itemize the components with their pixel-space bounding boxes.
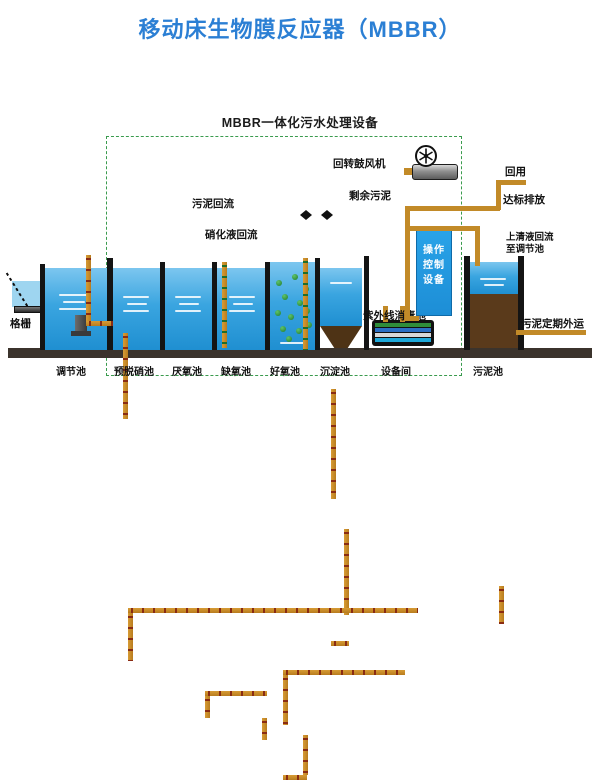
pipe-nitrified-return-left	[205, 696, 210, 718]
tank-water-anaerobic	[165, 268, 213, 350]
tank-label-regulating: 调节池	[56, 363, 86, 378]
sludge-tank-sludge	[470, 294, 518, 348]
tank-label-aerobic: 好氧池	[270, 363, 300, 378]
screen-label: 格栅	[10, 318, 31, 330]
ctrl-line-1: 操作	[417, 243, 451, 258]
pipe-uv-to-riser	[405, 316, 419, 321]
pipe-aerobic-diffuser	[303, 258, 308, 350]
reuse-label: 回用	[505, 166, 526, 178]
ground-base-mid	[296, 348, 456, 358]
pipe-blower-header	[283, 670, 405, 675]
pipe-sludge-return-main	[128, 608, 418, 613]
pipe-anoxic-riser	[222, 262, 227, 348]
pipe-sludge-return-down	[128, 613, 133, 661]
ctrl-line-2: 控制	[417, 258, 451, 273]
sludge-return-label: 污泥回流	[192, 198, 234, 210]
tank-label-anoxic: 缺氧池	[221, 363, 251, 378]
supernatant-return-label-2: 至调节池	[506, 244, 544, 255]
supernatant-return-label-1: 上清液回流	[506, 232, 554, 243]
pipe-supernatant-riser	[499, 586, 504, 624]
blower-label: 回转鼓风机	[333, 158, 386, 170]
tank-label-pre-denitrify: 预脱硝池	[114, 363, 154, 378]
pipe-blower-branch	[283, 775, 307, 780]
tank-wall-sedimentation-right	[364, 256, 369, 350]
tank-label-sludge: 污泥池	[473, 363, 503, 378]
pipe-pump-riser	[86, 255, 91, 321]
pipe-right-riser	[405, 206, 410, 316]
nitrified-return-label: 硝化液回流	[205, 229, 258, 241]
diagram-canvas: 移动床生物膜反应器（MBBR） MBBR一体化污水处理设备 格栅	[0, 0, 600, 408]
tank-water-aerobic	[270, 262, 316, 350]
pipe-blower-drop-1	[283, 675, 288, 725]
tank-water-regulating	[45, 268, 108, 350]
page-title: 移动床生物膜反应器（MBBR）	[0, 12, 600, 44]
fan-icon	[415, 145, 437, 167]
standard-discharge-label: 达标排放	[503, 194, 545, 206]
uv-disinfection-unit	[372, 320, 434, 346]
pipe-nitrified-return-top	[205, 691, 267, 696]
pipe-blower-drop-2	[303, 735, 308, 775]
pipe-reuse-branch	[496, 180, 526, 185]
tank-water-pre-denitrify	[113, 268, 161, 350]
diagram-subtitle: MBBR一体化污水处理设备	[0, 112, 600, 131]
pipe-sludge-transport	[516, 330, 586, 335]
control-equipment-box[interactable]: 操作 控制 设备	[416, 228, 452, 316]
pipe-to-sludge-tank	[405, 226, 480, 231]
pipe-sludge-tank-inlet	[475, 226, 480, 266]
sludge-transport-label: 污泥定期外运	[521, 318, 584, 330]
tank-label-sedimentation: 沉淀池	[320, 363, 350, 378]
pipe-sludge-draw	[344, 529, 349, 615]
ground-base-right	[456, 348, 592, 358]
excess-sludge-label: 剩余污泥	[349, 190, 391, 202]
tank-water-sedimentation	[320, 268, 362, 326]
tank-label-equipment-room: 设备间	[381, 363, 411, 378]
blower-body	[412, 164, 458, 180]
tank-label-anaerobic: 厌氧池	[172, 363, 202, 378]
pump-base	[71, 331, 91, 336]
pipe-discharge-header	[405, 206, 500, 211]
sludge-tank-supernatant	[470, 262, 518, 294]
pipe-sedimentation-inlet	[331, 389, 336, 499]
tank-wall-sludge-right	[518, 256, 524, 350]
pipe-nitrified-return-right	[262, 718, 267, 740]
pipe-sludge-crossover	[331, 641, 349, 646]
ctrl-line-3: 设备	[417, 273, 451, 288]
